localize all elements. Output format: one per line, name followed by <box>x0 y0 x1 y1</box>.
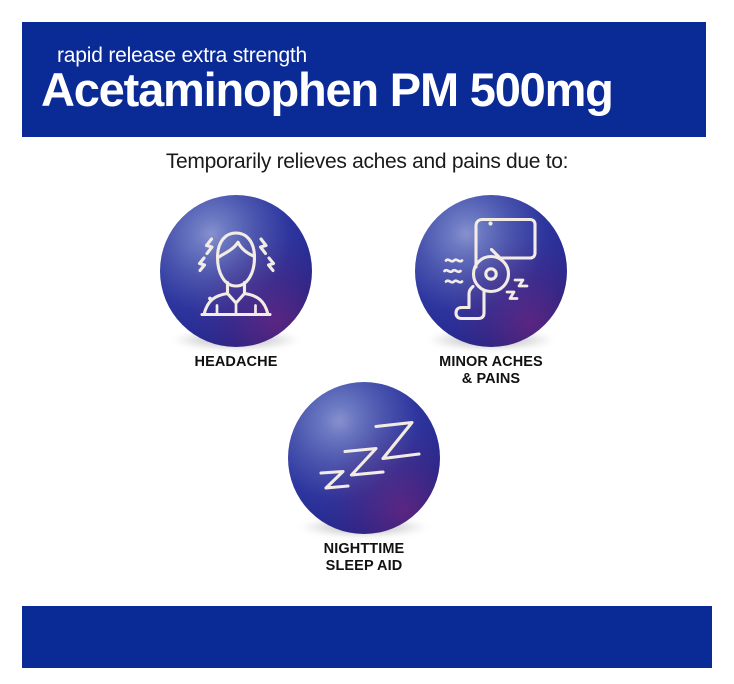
headache-person-icon <box>160 195 312 347</box>
sphere-wrapper <box>415 195 567 347</box>
sphere-sleep-aid <box>288 382 440 534</box>
product-label-page: rapid release extra strength Acetaminoph… <box>0 0 734 684</box>
sphere-headache <box>160 195 312 347</box>
sphere-minor-aches <box>415 195 567 347</box>
sleep-zzz-icon <box>288 382 440 534</box>
benefit-item-nighttime-sleep-aid: NIGHTTIME SLEEP AID <box>283 382 445 575</box>
footer-bar <box>22 606 712 668</box>
subtitle-text: Temporarily relieves aches and pains due… <box>0 150 734 174</box>
benefit-label-nighttime-sleep-aid: NIGHTTIME SLEEP AID <box>283 541 445 575</box>
benefit-label-headache: HEADACHE <box>155 354 317 371</box>
benefit-item-headache: HEADACHE <box>155 195 317 371</box>
sphere-wrapper <box>288 382 440 534</box>
product-title: Acetaminophen PM 500mg <box>41 65 613 114</box>
sphere-wrapper <box>160 195 312 347</box>
knee-joint-pain-icon <box>415 195 567 347</box>
benefit-item-minor-aches-pains: MINOR ACHES & PAINS <box>410 195 572 388</box>
